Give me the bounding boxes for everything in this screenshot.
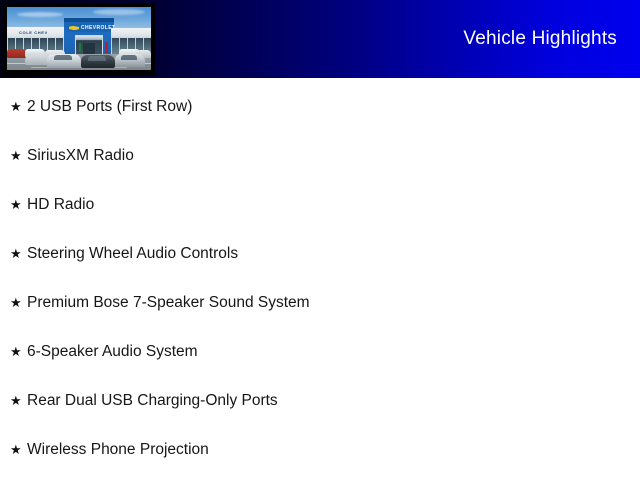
highlight-label: 2 USB Ports (First Row): [27, 98, 192, 116]
cloud-shape: [93, 9, 145, 15]
dealership-wing-sign-text: COLE CHEV: [19, 30, 48, 35]
highlight-label: 6-Speaker Audio System: [27, 343, 198, 361]
parked-car: [47, 54, 81, 68]
parked-car: [81, 55, 115, 68]
star-bullet-icon: ★: [10, 198, 27, 211]
star-bullet-icon: ★: [10, 247, 27, 260]
parked-car: [115, 54, 145, 67]
highlight-label: Wireless Phone Projection: [27, 441, 209, 459]
star-bullet-icon: ★: [10, 296, 27, 309]
star-bullet-icon: ★: [10, 345, 27, 358]
highlight-label: Rear Dual USB Charging-Only Ports: [27, 392, 278, 410]
list-item: ★Wireless Phone Projection: [0, 425, 640, 474]
star-bullet-icon: ★: [10, 443, 27, 456]
list-item: ★SiriusXM Radio: [0, 131, 640, 180]
banner-flag-green: [79, 43, 81, 52]
star-bullet-icon: ★: [10, 394, 27, 407]
cloud-shape: [17, 12, 63, 17]
star-bullet-icon: ★: [10, 100, 27, 113]
page-title: Vehicle Highlights: [463, 28, 617, 50]
car-windshield: [88, 56, 106, 61]
list-item: ★Steering Wheel Audio Controls: [0, 229, 640, 278]
header-banner: COLE CHEV CHEVROLET: [0, 0, 640, 78]
parked-car: [7, 49, 26, 58]
star-bullet-icon: ★: [10, 149, 27, 162]
parked-car: [25, 55, 49, 65]
highlight-label: Premium Bose 7-Speaker Sound System: [27, 294, 310, 312]
banner-flag-red: [105, 42, 108, 53]
highlight-label: SiriusXM Radio: [27, 147, 134, 165]
list-item: ★2 USB Ports (First Row): [0, 82, 640, 131]
highlight-label: HD Radio: [27, 196, 94, 214]
list-item: ★6-Speaker Audio System: [0, 327, 640, 376]
car-windshield: [54, 55, 72, 60]
highlight-label: Steering Wheel Audio Controls: [27, 245, 238, 263]
list-item: ★Premium Bose 7-Speaker Sound System: [0, 278, 640, 327]
dealership-tower-cap: [64, 18, 114, 22]
list-item: ★Rear Dual USB Charging-Only Ports: [0, 376, 640, 425]
car-windshield: [121, 55, 137, 60]
dealership-photo: COLE CHEV CHEVROLET: [3, 3, 155, 76]
list-item: ★HD Radio: [0, 180, 640, 229]
dealership-photo-inner: COLE CHEV CHEVROLET: [7, 7, 151, 70]
vehicle-highlights-list: ★2 USB Ports (First Row)★SiriusXM Radio★…: [0, 82, 640, 474]
